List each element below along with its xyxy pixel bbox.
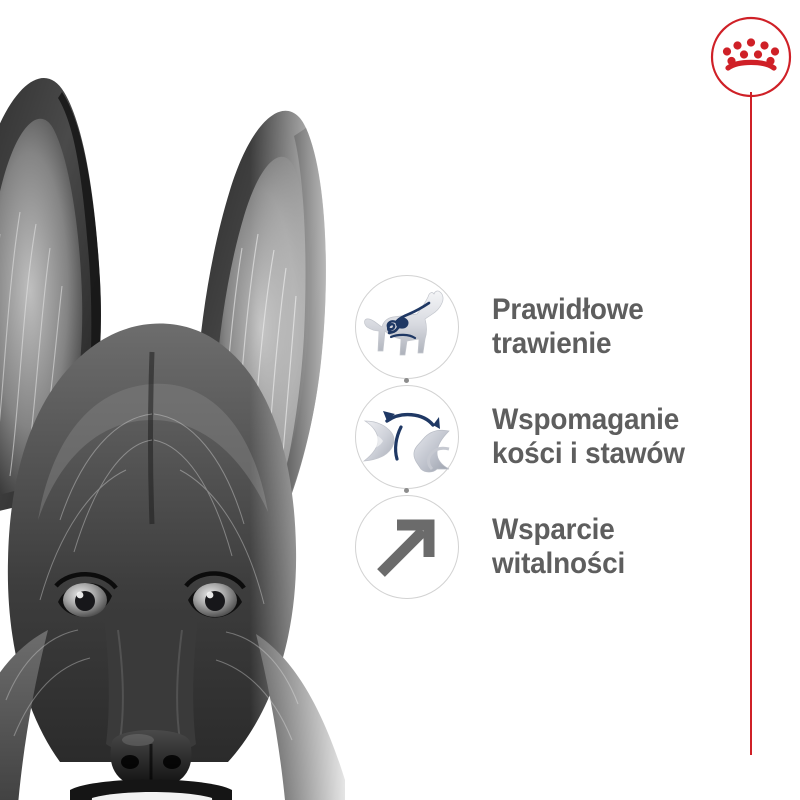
dog-nose	[111, 730, 192, 788]
bone-joint-icon	[355, 385, 459, 489]
german-shepherd-illustration	[0, 0, 345, 800]
arrow-up-right-icon	[355, 495, 459, 599]
benefit-label-joints: Wspomaganie kości i stawów	[492, 403, 685, 471]
benefit-item-joints: Wspomaganie kości i stawów	[355, 382, 755, 492]
benefit-item-digestion: Prawidłowe trawienie	[355, 272, 755, 382]
royal-canin-logo	[710, 16, 792, 98]
crown-in-circle-icon	[710, 16, 792, 98]
product-benefits-panel: Prawidłowe trawienie	[0, 0, 800, 800]
benefit-label-vitality: Wsparcie witalności	[492, 513, 625, 581]
dog-digestion-icon	[355, 275, 459, 379]
benefit-label-digestion: Prawidłowe trawienie	[492, 293, 644, 361]
benefit-item-vitality: Wsparcie witalności	[355, 492, 755, 602]
benefits-list: Prawidłowe trawienie	[355, 272, 755, 602]
dog-photo	[0, 0, 345, 800]
